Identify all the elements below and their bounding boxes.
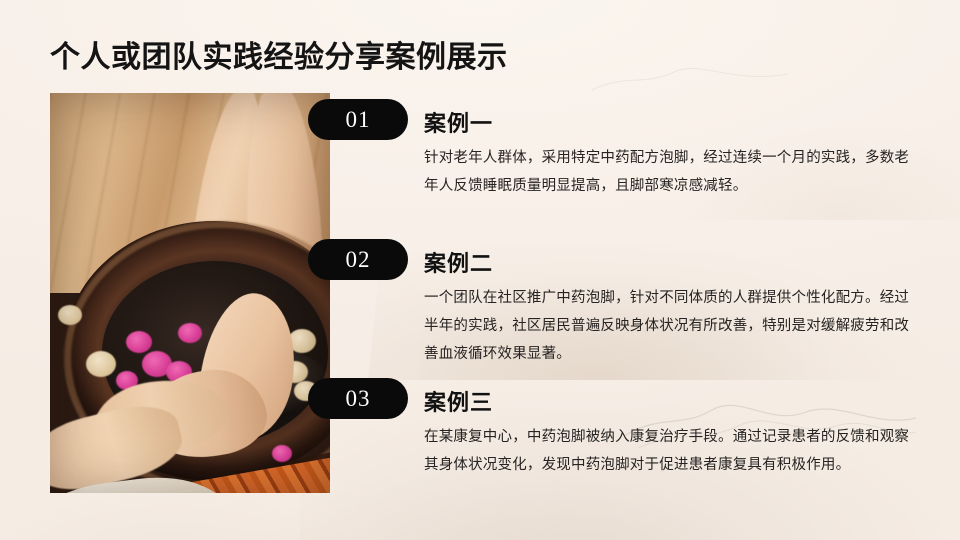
case-number-badge-03[interactable]: 03 <box>308 378 408 419</box>
case-body-01: 针对老年人群体，采用特定中药配方泡脚，经过连续一个月的实践，多数老年人反馈睡眠质… <box>424 144 910 200</box>
case-heading-01: 案例一 <box>424 106 493 138</box>
case-body-02: 一个团队在社区推广中药泡脚，针对不同体质的人群提供个性化配方。经过半年的实践，社… <box>424 284 920 368</box>
case-body-03: 在某康复中心，中药泡脚被纳入康复治疗手段。通过记录患者的反馈和观察其身体状况变化… <box>424 423 916 479</box>
case-heading-02: 案例二 <box>424 246 493 278</box>
slide-canvas: 个人或团队实践经验分享案例展示 <box>0 0 960 540</box>
ink-ridge-line-top <box>590 60 790 100</box>
photo-vignette <box>50 93 330 493</box>
case-heading-03: 案例三 <box>424 385 493 417</box>
foot-soak-spa-photo <box>50 93 330 493</box>
case-number-badge-01[interactable]: 01 <box>308 99 408 140</box>
page-title: 个人或团队实践经验分享案例展示 <box>50 39 508 77</box>
case-number-badge-02[interactable]: 02 <box>308 239 408 280</box>
